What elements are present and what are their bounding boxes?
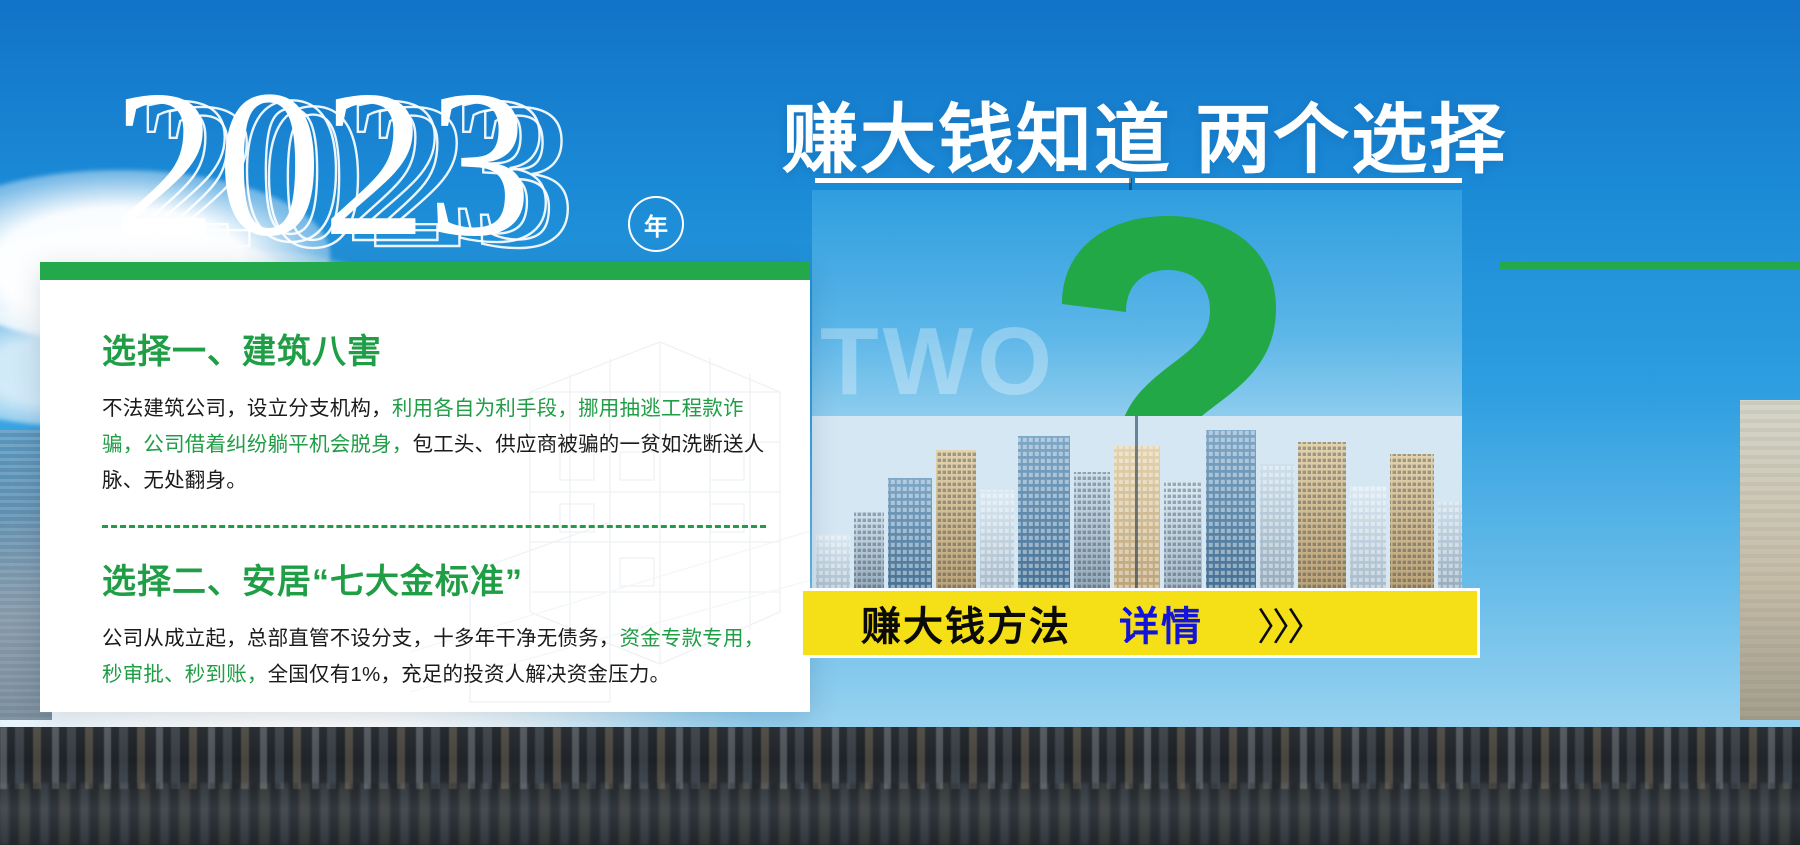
choices-visual-panel: TWO CHOICES (812, 190, 1462, 600)
page-title: 赚大钱知道 两个选择 (782, 78, 1507, 188)
bottom-city-strip (0, 727, 1800, 845)
year-unit-badge: 年 (628, 196, 684, 252)
headline-rule-left (815, 178, 1131, 183)
run-black-2: 全国仅有1%，充足的投资人解决资金压力。 (268, 663, 671, 686)
card-green-topbar (40, 262, 810, 280)
cta-bar[interactable]: 赚大钱方法 详情 〉〉〉 (800, 588, 1480, 658)
headline-rule-right (1135, 178, 1462, 183)
run-black: 不法建筑公司，设立分支机构， (102, 397, 392, 420)
section-divider (102, 525, 766, 528)
run-black: 公司从成立起，总部直管不设分支，十多年干净无债务， (102, 627, 620, 650)
green-accent-bar-right (1500, 262, 1800, 269)
panel-seam (1135, 416, 1138, 600)
section-2-body: 公司从成立起，总部直管不设分支，十多年干净无债务，资金专款专用，秒审批、秒到账，… (102, 621, 766, 693)
content-card: 选择一、建筑八害 不法建筑公司，设立分支机构，利用各自为利手段，挪用抽逃工程款诈… (40, 262, 810, 712)
chevron-right-icon: 〉〉〉 (1257, 596, 1321, 651)
section-2-title: 选择二、安居“七大金标准” (102, 554, 766, 603)
promo-banner: 2023 2023 2023 年 赚大钱知道 两个选择 TWO CHOICES (0, 0, 1800, 845)
section-1-body: 不法建筑公司，设立分支机构，利用各自为利手段，挪用抽逃工程款诈骗，公司借着纠纷躺… (102, 391, 766, 499)
right-building-sliver (1740, 400, 1800, 720)
section-1-title: 选择一、建筑八害 (102, 324, 766, 373)
cta-detail-link[interactable]: 详情 (1119, 594, 1203, 652)
cityscape-photo (812, 416, 1462, 600)
cta-main-label: 赚大钱方法 (861, 594, 1071, 652)
